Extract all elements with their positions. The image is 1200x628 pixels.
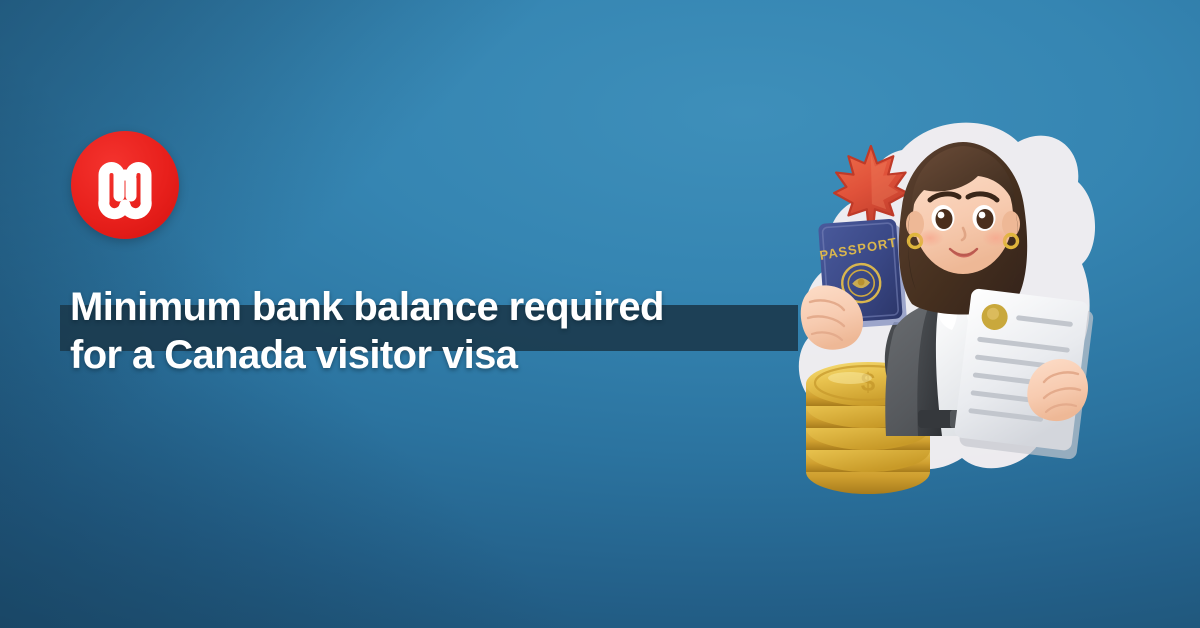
headline-block: Minimum bank balance required for a Cana… (70, 283, 830, 379)
visa-applicant-sticker: $ PASSPORT (782, 98, 1118, 510)
illustration-svg: $ PASSPORT (782, 98, 1118, 510)
headline-line-1-text: Minimum bank balance required (70, 285, 664, 329)
logo-circle (71, 131, 179, 239)
brand-logo[interactable] (71, 131, 179, 239)
businesswoman-head (899, 142, 1027, 315)
headline-line-2-text: for a Canada visitor visa (70, 333, 517, 377)
banner-root: Minimum bank balance required for a Cana… (0, 0, 1200, 628)
headline-line-1: Minimum bank balance required (70, 283, 830, 331)
logo-w-mark (89, 149, 161, 221)
